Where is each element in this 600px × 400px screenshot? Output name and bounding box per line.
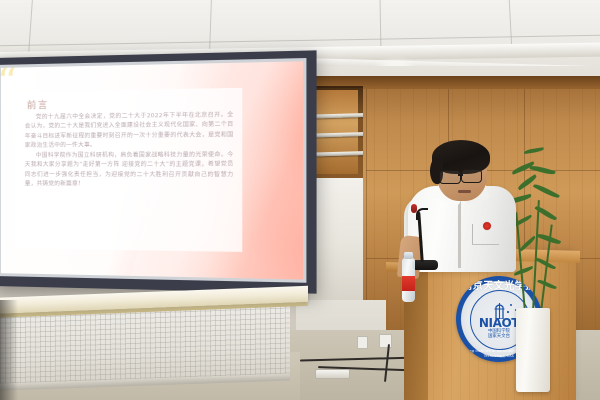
ceiling-tile-seam [28, 0, 33, 54]
microphone-head-icon [411, 204, 417, 213]
power-strip [315, 369, 350, 379]
star-icon [507, 311, 509, 313]
party-emblem-pin [483, 222, 491, 230]
water-bottle-cap [404, 252, 413, 259]
wall-outlet [357, 336, 368, 349]
microphone-base [412, 260, 438, 270]
slide-title: 前言 [27, 97, 49, 111]
eyeglasses-bridge [458, 174, 463, 176]
ceiling-tile-seam [209, 0, 212, 52]
slide-paragraph: 中国科学院作为国立科研机构，肩负着国家战略科技力量的光荣使命。今天我和大家分享题… [25, 151, 234, 190]
presentation-slide: “ 前言 党的十九届六中全会决定，党的二十大于2022年下半年在北京召开。全会认… [1, 61, 303, 279]
slide-paragraph: 党的十九届六中全会决定，党的二十大于2022年下半年在北京召开。全会认为，党的二… [25, 111, 234, 151]
projection-screen-surface: “ 前言 党的十九届六中全会决定，党的二十大于2022年下半年在北京召开。全会认… [0, 58, 306, 283]
projection-screen: “ 前言 党的十九届六中全会决定，党的二十大于2022年下半年在北京召开。全会认… [0, 50, 317, 293]
wall-outlet [379, 334, 392, 348]
slide-body: 党的十九届六中全会决定，党的二十大于2022年下半年在北京召开。全会认为，党的二… [25, 111, 234, 191]
ceiling-tile-seam [380, 0, 382, 50]
eyeglasses-icon [461, 169, 482, 183]
speaker-shirt-placket [458, 196, 461, 268]
water-bottle-label [402, 276, 415, 291]
star-icon [510, 304, 512, 306]
conference-room-photo: “ 前言 党的十九届六中全会决定，党的二十大于2022年下半年在北京召开。全会认… [0, 0, 600, 400]
speaker-mouth [458, 190, 471, 193]
eyeglasses-icon [439, 170, 461, 184]
ceiling-tile-seam [509, 0, 513, 48]
left-shadow-edge [0, 300, 18, 400]
microphone-gooseneck-bend [416, 208, 428, 220]
planter [516, 308, 550, 392]
wood-panel-seam [366, 89, 367, 333]
